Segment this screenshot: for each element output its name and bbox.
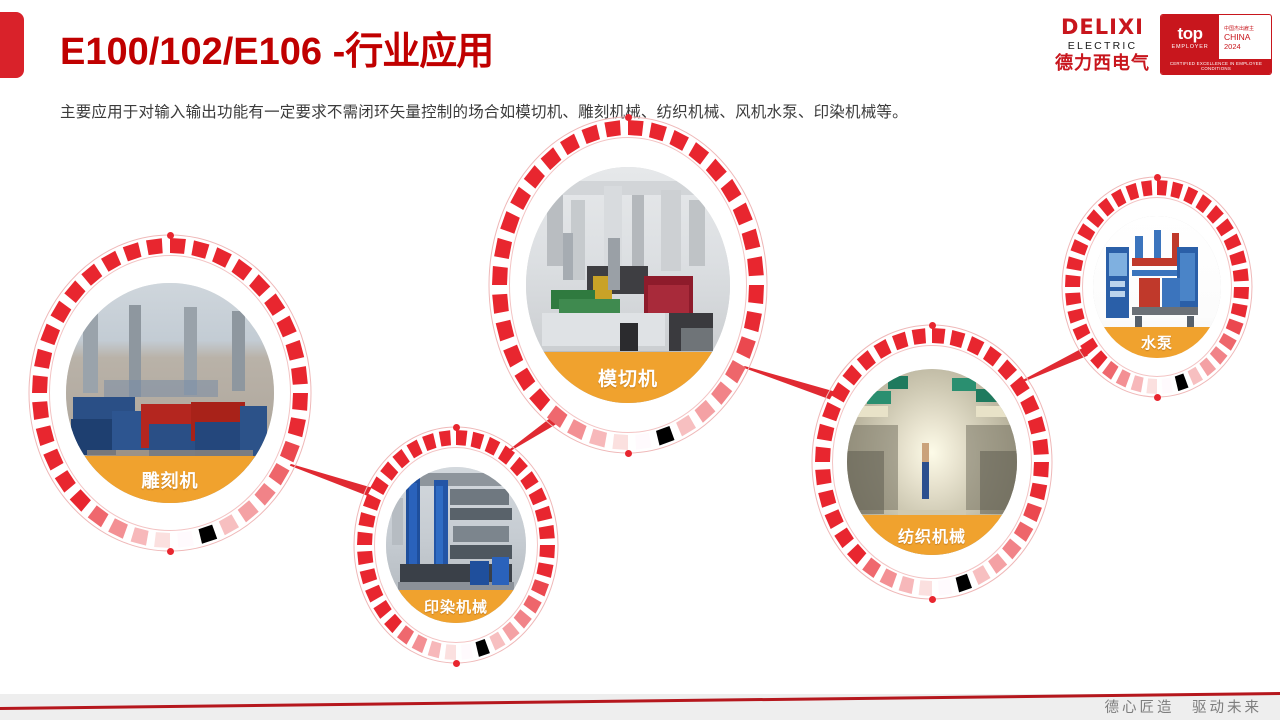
photo-element (952, 378, 976, 391)
photo-element (847, 451, 885, 514)
node-printdye[interactable]: 印染机械 (350, 423, 562, 667)
photo-element (470, 561, 489, 586)
ring-dash (43, 449, 63, 471)
ring-dash (539, 545, 555, 558)
ring-dash (357, 551, 373, 565)
photo-element (559, 299, 620, 313)
ring-dash (1023, 503, 1042, 522)
ring-dash (1157, 180, 1168, 196)
photo-element (571, 200, 585, 280)
ring-dash (288, 417, 306, 437)
ring-dash (292, 393, 308, 411)
photo-element (450, 508, 511, 520)
ring-dash (177, 531, 194, 548)
ring-dash (492, 294, 509, 314)
ring-dash (397, 625, 414, 644)
ring-dash (412, 634, 428, 653)
photo-element (867, 391, 891, 404)
ring-dash (1073, 324, 1091, 341)
ring-dash (1116, 369, 1131, 387)
ring-dash (818, 490, 836, 508)
ring-dash (892, 332, 908, 351)
ring-dash (1102, 361, 1118, 380)
node-dot-bottom (929, 596, 936, 603)
ring-dash (439, 430, 451, 446)
ring-dash (40, 324, 60, 346)
ring-dash (815, 469, 831, 485)
ring-dash (286, 340, 305, 361)
ring-dash (1233, 268, 1249, 281)
ring-dash (1071, 239, 1089, 255)
ring-dash (967, 336, 985, 356)
node-label-band: 印染机械 (386, 590, 525, 623)
node-label-text: 纺织机械 (898, 523, 966, 547)
photo-element (104, 380, 218, 398)
ring-dash (1028, 416, 1046, 434)
ring-dash (1234, 287, 1250, 299)
ring-dash (1065, 293, 1081, 306)
photo-element (1132, 307, 1198, 316)
ring-dash (280, 441, 300, 463)
ring-dash (212, 247, 232, 267)
photo-element (980, 451, 1018, 514)
ring-dash (537, 562, 554, 578)
ring-dash (1196, 194, 1212, 213)
ring-dash (635, 433, 651, 450)
photo-element (632, 195, 644, 266)
ring-dash (502, 622, 519, 641)
ring-dash (736, 336, 756, 359)
ring-dash (1030, 483, 1048, 501)
node-dot-bottom (167, 548, 174, 555)
node-label-band: 雕刻机 (66, 456, 273, 503)
ring-dash (1229, 250, 1246, 265)
ring-dash (748, 285, 764, 304)
ring-dash (277, 316, 297, 338)
node-dot-top (167, 232, 174, 239)
ring-dash (1068, 308, 1085, 323)
ring-dash (146, 238, 163, 255)
photo-element (392, 498, 403, 545)
photo-element (83, 309, 97, 393)
ring-dash (539, 525, 555, 539)
photo-element (689, 200, 705, 266)
ring-dash (649, 123, 667, 142)
ring-dash (357, 532, 373, 545)
node-dot-top (625, 114, 632, 121)
node-diecutting[interactable]: 模切机 (485, 113, 771, 457)
ring-dash (1141, 180, 1152, 196)
ring-dash (742, 229, 761, 251)
footer-accent-line (0, 680, 1280, 720)
photo-element (1180, 253, 1195, 301)
ring-dash (535, 506, 552, 522)
photo-element (1139, 278, 1159, 307)
ring-dash (170, 238, 186, 254)
ring-dash (199, 525, 218, 544)
node-dot-top (453, 424, 460, 431)
ring-dash (656, 426, 675, 446)
node-label-band: 模切机 (526, 352, 730, 403)
ring-dash (1231, 303, 1248, 318)
ring-dash (1162, 378, 1173, 394)
ring-dash (1033, 462, 1049, 477)
ring-dash (34, 349, 52, 369)
ring-dash (825, 509, 844, 529)
ring-dash (747, 256, 764, 276)
photo-element (542, 313, 664, 346)
node-photo-diecutting: 模切机 (526, 167, 730, 404)
ring-dash (407, 440, 423, 459)
ring-dash (973, 565, 991, 585)
ring-dash (500, 211, 520, 234)
ring-dash (363, 494, 381, 511)
node-dot-bottom (453, 660, 460, 667)
ring-dash (1066, 256, 1083, 271)
ring-dash (874, 339, 892, 359)
node-label-band: 水泵 (1093, 327, 1220, 358)
photo-element (453, 526, 509, 542)
ring-dash (496, 320, 515, 342)
ring-dash (950, 330, 966, 348)
ring-dash (1098, 198, 1115, 217)
ring-dash (1199, 358, 1216, 377)
ring-dash (1219, 333, 1237, 351)
ring-dash (131, 527, 149, 545)
node-waterpump[interactable]: 水泵 (1058, 173, 1256, 401)
ring-dash (880, 568, 898, 588)
ring-dash (1111, 189, 1126, 208)
photo-element (648, 285, 689, 313)
photo-element (661, 190, 681, 270)
ring-dash (32, 401, 49, 420)
photo-element (922, 443, 929, 462)
ring-dash (938, 579, 952, 596)
ring-dash (359, 512, 376, 528)
node-textile[interactable]: 纺织机械 (808, 321, 1056, 603)
photo-element (1154, 230, 1160, 261)
node-dot-bottom (1154, 394, 1161, 401)
node-label-text: 水泵 (1141, 332, 1173, 353)
ring-dash (912, 328, 926, 345)
photo-element (492, 557, 509, 585)
ring-dash (476, 639, 490, 657)
ring-dash (123, 242, 142, 261)
photo-element (450, 489, 508, 505)
ring-dash (498, 445, 515, 464)
node-label-text: 雕刻机 (141, 467, 198, 493)
ring-dash (744, 311, 762, 332)
footer-line-shape (0, 692, 1280, 710)
ring-dash (523, 595, 541, 614)
ring-dash (1224, 234, 1242, 251)
ring-dash (422, 433, 436, 451)
ring-dash (485, 437, 501, 456)
ring-dash (365, 585, 383, 603)
ring-dash (445, 644, 456, 660)
ring-dash (191, 240, 209, 258)
ring-dash (492, 266, 508, 285)
ring-dash (108, 518, 128, 539)
ring-dash (1183, 187, 1198, 205)
ring-dash (582, 125, 601, 145)
ring-dash (1170, 182, 1183, 199)
node-photo-waterpump: 水泵 (1093, 216, 1220, 359)
ring-dash (1131, 375, 1144, 392)
ring-dash (36, 425, 55, 446)
node-photo-textile: 纺织机械 (847, 369, 1018, 555)
ring-dash (817, 424, 835, 442)
ring-dash (1065, 275, 1081, 287)
ring-dash (1126, 183, 1140, 201)
ring-dash (899, 576, 915, 594)
slide-canvas: E100/102/E106 -行业应用 主要应用于对输入输出功能有一定要求不需闭… (0, 0, 1280, 720)
ring-dash (489, 632, 505, 651)
photo-element (1110, 291, 1125, 297)
ring-dash (733, 203, 753, 226)
photo-element (563, 233, 573, 280)
photo-element (547, 195, 563, 266)
ring-dash (428, 641, 442, 659)
ring-dash (494, 238, 512, 259)
photo-element (1110, 281, 1125, 287)
ring-dash (360, 568, 377, 584)
node-photo-printdye: 印染机械 (386, 467, 525, 623)
ring-dash (461, 644, 473, 660)
node-label-text: 模切机 (598, 364, 658, 391)
ring-dash (919, 580, 932, 596)
photo-element (534, 181, 721, 195)
ring-dash (589, 429, 607, 448)
ring-dash (1033, 439, 1049, 455)
ring-dash (471, 432, 485, 450)
ring-dash (32, 375, 48, 393)
ring-dash (604, 120, 620, 137)
ring-dash (531, 579, 549, 596)
node-engraving[interactable]: 雕刻机 (25, 231, 315, 555)
photo-element (1162, 278, 1180, 307)
photo-element (232, 311, 244, 390)
ring-dash (1175, 374, 1189, 392)
node-label-band: 纺织机械 (847, 515, 1018, 555)
ring-dash (612, 434, 628, 450)
node-photo-engraving: 雕刻机 (66, 283, 273, 503)
photo-element (993, 374, 1017, 387)
ring-dash (822, 402, 841, 421)
ring-dash (456, 430, 467, 446)
photo-element (888, 376, 908, 389)
photo-element (850, 406, 888, 417)
ring-dash (1020, 395, 1039, 415)
photo-element (922, 458, 929, 499)
ring-dash (628, 120, 644, 136)
ring-dash (291, 366, 308, 385)
footer-slogan: 德心匠造 驱动未来 (1105, 696, 1263, 717)
ring-dash (932, 328, 945, 344)
ring-dash (815, 447, 831, 462)
photo-element (976, 389, 1000, 402)
ring-dash (1146, 378, 1157, 394)
ring-dash (1226, 319, 1244, 335)
ring-dash (154, 532, 170, 548)
node-dot-bottom (625, 450, 632, 457)
ring-dash (956, 574, 972, 593)
node-label-text: 印染机械 (424, 596, 488, 617)
ring-dash (392, 449, 409, 468)
ring-dash (1188, 367, 1203, 386)
photo-element (608, 238, 620, 290)
photo-element (1109, 253, 1127, 276)
photo-element (976, 406, 1014, 417)
ring-dash (529, 488, 547, 506)
node-dot-top (929, 322, 936, 329)
ring-dash (503, 345, 523, 368)
node-dot-top (1154, 174, 1161, 181)
